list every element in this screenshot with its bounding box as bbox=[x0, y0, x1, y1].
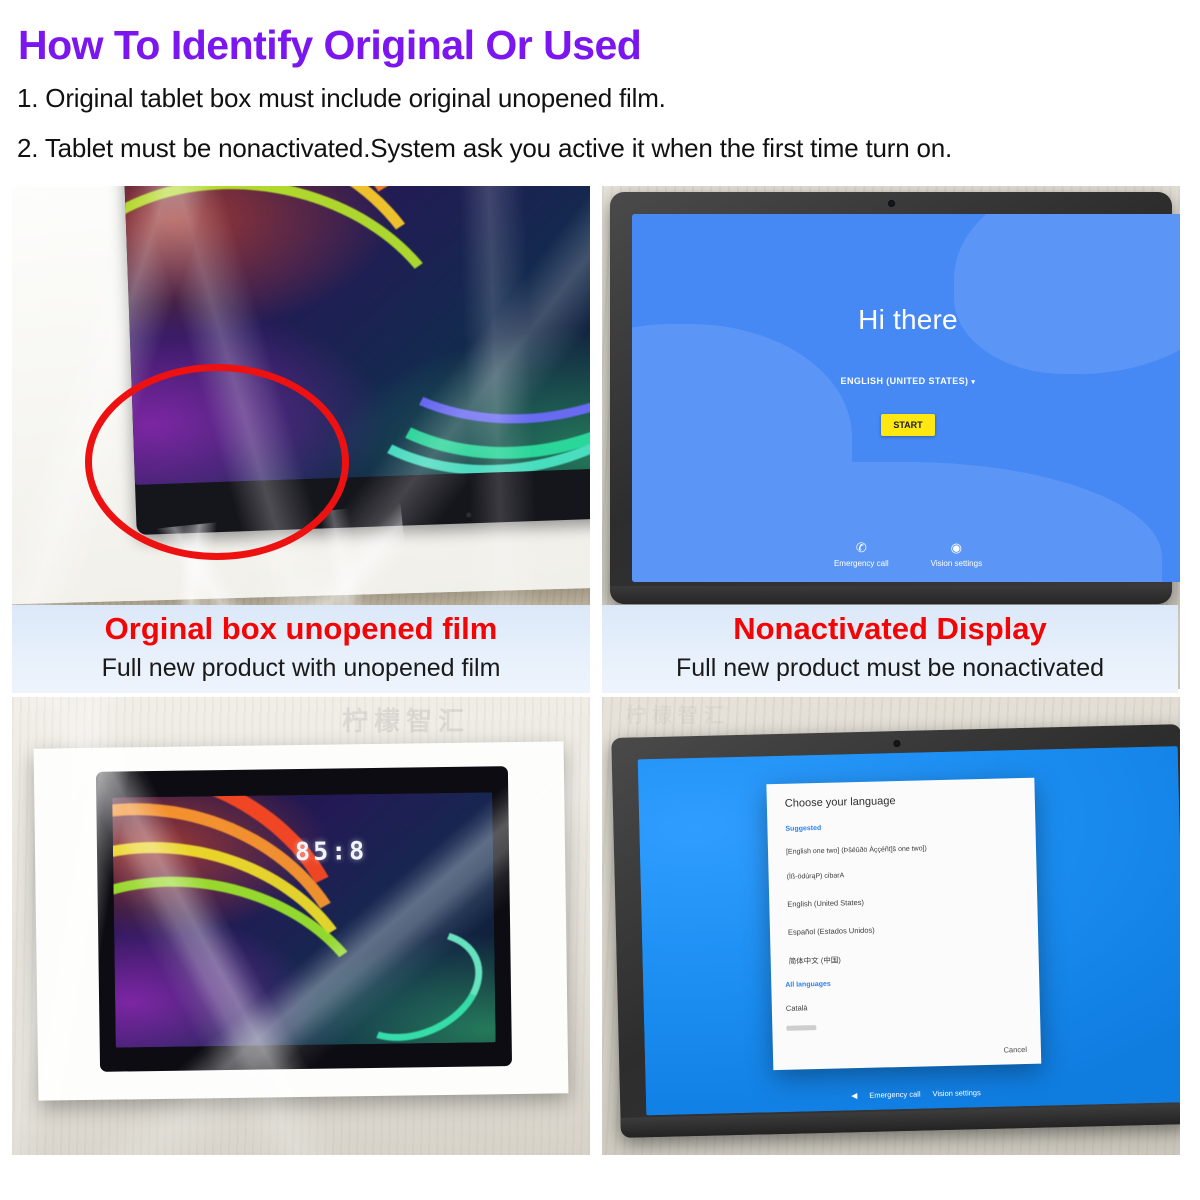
caption-subline-left: Full new product with unopened film bbox=[12, 654, 590, 683]
printed-camera-dot bbox=[466, 512, 471, 517]
dialog-section-all-languages: All languages bbox=[785, 981, 831, 989]
language-selector[interactable]: ENGLISH (UNITED STATES)▾ bbox=[632, 376, 1180, 386]
dialog-title: Choose your language bbox=[785, 795, 896, 810]
photo-tablet-choose-language: 柠檬智汇 Choose your language Suggested [Eng… bbox=[602, 697, 1180, 1155]
vision-settings-label[interactable]: Vision settings bbox=[932, 1088, 980, 1098]
vision-settings-label: Vision settings bbox=[931, 559, 982, 568]
chevron-down-icon: ▾ bbox=[971, 377, 975, 386]
android-setup-screen: Hi there ENGLISH (UNITED STATES)▾ START … bbox=[632, 214, 1180, 582]
caption-original-box: Orginal box unopened film Full new produ… bbox=[12, 605, 590, 693]
dialog-option-espanol[interactable]: Español (Estados Unidos) bbox=[788, 926, 875, 937]
box-clock-display: 85:8 bbox=[295, 836, 368, 866]
eye-icon: ◉ bbox=[951, 541, 962, 554]
vision-settings-button[interactable]: ◉ Vision settings bbox=[931, 541, 982, 568]
caption-nonactivated-display: Nonactivated Display Full new product mu… bbox=[602, 605, 1178, 693]
dialog-option-english-us[interactable]: English (United States) bbox=[787, 898, 864, 909]
dialog-cancel-button[interactable]: Cancel bbox=[1003, 1045, 1027, 1055]
page-header: How To Identify Original Or Used 1. Orig… bbox=[0, 0, 1200, 178]
instruction-line-2: 2. Tablet must be nonactivated.System as… bbox=[17, 133, 952, 164]
dialog-option-pseudo-en[interactable]: [English one two] (Þšéûðö Àççéñt]š one t… bbox=[786, 845, 927, 855]
dialog-option-catala[interactable]: Català bbox=[786, 1003, 808, 1013]
photo-panel-wrapped-box: 柠檬智汇 85:8 bbox=[12, 697, 590, 1155]
back-arrow-icon[interactable]: ◀ bbox=[851, 1091, 857, 1100]
tablet-screen: Hi there ENGLISH (UNITED STATES)▾ START … bbox=[632, 214, 1180, 582]
box-artwork-wallpaper: 85:8 bbox=[112, 792, 495, 1047]
decor-blob bbox=[954, 214, 1180, 374]
start-button[interactable]: START bbox=[881, 414, 935, 436]
caption-subline-right: Full new product must be nonactivated bbox=[602, 654, 1178, 683]
caption-headline-left: Orginal box unopened film bbox=[12, 611, 590, 647]
caption-headline-right: Nonactivated Display bbox=[602, 611, 1178, 647]
watermark-text: 柠檬智汇 bbox=[626, 699, 730, 728]
front-camera-icon bbox=[888, 200, 895, 207]
dialog-section-suggested: Suggested bbox=[785, 825, 821, 833]
red-highlight-ellipse bbox=[85, 364, 349, 560]
phone-icon: ✆ bbox=[856, 541, 867, 554]
dialog-option-partial[interactable] bbox=[786, 1025, 816, 1031]
language-selector-label: ENGLISH (UNITED STATES) bbox=[841, 376, 969, 386]
watermark-text: 柠檬智汇 bbox=[342, 701, 470, 738]
page-title: How To Identify Original Or Used bbox=[18, 22, 641, 69]
photo-panel-language-dialog: 柠檬智汇 Choose your language Suggested [Eng… bbox=[602, 697, 1180, 1155]
tablet-body: Choose your language Suggested [English … bbox=[611, 724, 1180, 1138]
front-camera-icon bbox=[893, 740, 900, 747]
emergency-call-button[interactable]: ✆ Emergency call bbox=[834, 541, 889, 568]
tablet-bezel: Hi there ENGLISH (UNITED STATES)▾ START … bbox=[610, 192, 1172, 604]
photo-shrinkwrapped-retail-box: 柠檬智汇 85:8 bbox=[12, 697, 590, 1155]
retail-box-card: 85:8 bbox=[34, 741, 569, 1100]
tablet-screen: Choose your language Suggested [English … bbox=[638, 746, 1180, 1115]
greeting-text: Hi there bbox=[632, 304, 1180, 336]
dialog-option-chinese[interactable]: 简体中文 (中国) bbox=[789, 954, 841, 966]
dialog-option-pseudo-ar[interactable]: (Ìß-ödúrąP) cibarA bbox=[787, 872, 845, 880]
bezel-bottom-edge bbox=[610, 586, 1172, 604]
emergency-call-label[interactable]: Emergency call bbox=[869, 1090, 920, 1100]
emergency-call-label: Emergency call bbox=[834, 559, 889, 568]
instruction-line-1: 1. Original tablet box must include orig… bbox=[17, 83, 666, 114]
choose-language-dialog[interactable]: Choose your language Suggested [English … bbox=[766, 778, 1041, 1070]
box-printed-tablet: 85:8 bbox=[96, 766, 512, 1072]
tablet-bezel: Choose your language Suggested [English … bbox=[611, 724, 1180, 1138]
